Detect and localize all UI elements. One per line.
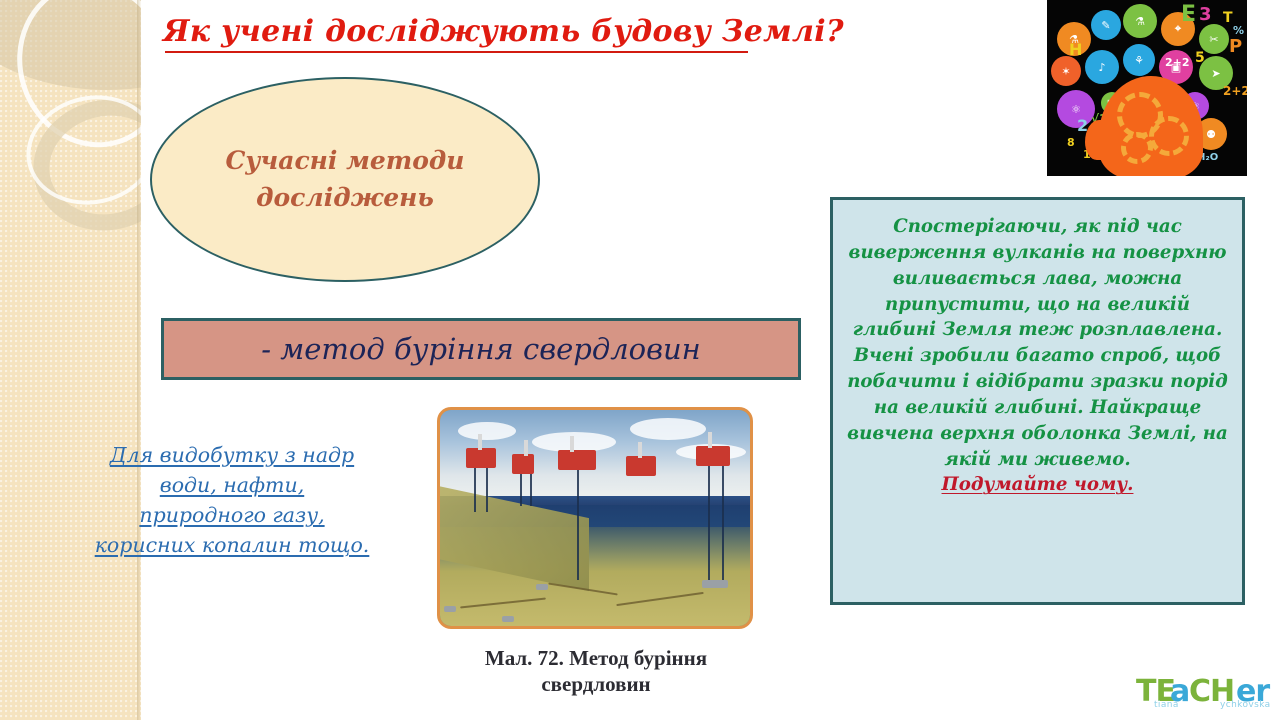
head-silhouette-icon: [1099, 76, 1203, 176]
extraction-note-line-3: природного газу,: [139, 503, 324, 527]
glyph-5: 5: [1195, 50, 1205, 66]
riser-pipe: [577, 470, 579, 580]
rig-leg: [474, 468, 476, 512]
glyph-T: T: [1223, 10, 1233, 26]
modern-methods-ellipse: Сучасні методи досліджень: [150, 77, 540, 282]
subsea-wellhead: [536, 584, 548, 590]
cloud-icon: [532, 432, 616, 452]
subsea-template: [702, 580, 728, 588]
bubble-music-icon: ♪: [1085, 50, 1119, 84]
observation-body-text: Спостерігаючи, як під час виверження вул…: [845, 214, 1230, 472]
gear-icon: [1149, 116, 1189, 156]
bubble-atom-icon: ⚛: [1057, 90, 1095, 128]
cloud-icon: [630, 418, 706, 440]
drilling-rig: [466, 448, 496, 468]
glyph-percent: %: [1233, 24, 1244, 37]
extraction-purpose-note: Для видобутку з надр води, нафти, природ…: [82, 440, 382, 561]
glyph-H: H: [1069, 40, 1082, 59]
rig-leg: [520, 474, 522, 506]
bubble-beaker-icon: ⚗: [1123, 4, 1157, 38]
glyph-8: 8: [1067, 136, 1075, 149]
glyph-E: E: [1181, 2, 1196, 27]
extraction-note-line-1: Для видобутку з надр: [110, 443, 354, 467]
drilling-rig: [696, 446, 730, 466]
figure-container: [437, 407, 753, 629]
offshore-drilling-rigs-illustration: [437, 407, 753, 629]
drilling-rig: [558, 450, 596, 470]
bubble-globe-icon: ✶: [1051, 56, 1081, 86]
glyph-3: 3: [1199, 4, 1212, 25]
glyph-sum-2plus2: 2+2: [1165, 56, 1190, 69]
glyph-sum-2plus2-alt: 2+2: [1223, 84, 1247, 98]
extraction-note-line-2: води, нафти,: [160, 473, 304, 497]
cloud-icon: [458, 422, 516, 440]
title-underline-rule: [165, 51, 748, 53]
figure-caption: Мал. 72. Метод буріння свердловин: [420, 645, 772, 698]
bubble-pen-icon: ✎: [1091, 10, 1121, 40]
sidebar-edge: [137, 0, 141, 720]
decorative-sidebar: [0, 0, 141, 720]
bubble-dna-icon: ⚘: [1123, 44, 1155, 76]
riser-pipe: [708, 466, 710, 586]
glyph-P: P: [1229, 36, 1242, 57]
rig-leg: [530, 474, 532, 506]
extraction-note-line-4: корисних копалин тощо.: [95, 533, 370, 557]
drilling-method-bar: - метод буріння свердловин: [161, 318, 801, 380]
subsea-wellhead: [502, 616, 514, 622]
page-title: Як учені досліджують будову Землі?: [163, 14, 763, 49]
modern-methods-label: Сучасні методи досліджень: [226, 143, 465, 216]
drilling-rig: [512, 454, 534, 474]
drilling-vessel: [626, 456, 656, 476]
think-why-prompt: Подумайте чому.: [845, 474, 1230, 495]
logo-subtext-left: tiana: [1154, 700, 1179, 710]
logo-subtext-right: ychkovska: [1220, 700, 1271, 710]
teacher-logo: TE a CH er tiana ychkovska: [1136, 674, 1276, 718]
gear-icon: [1121, 132, 1153, 164]
riser-pipe: [722, 466, 724, 584]
subsea-wellhead: [444, 606, 456, 612]
drilling-method-label: - метод буріння свердловин: [261, 332, 701, 366]
rig-leg: [486, 468, 488, 512]
observation-text-box: Спостерігаючи, як під час виверження вул…: [830, 197, 1245, 605]
science-brain-icons-image: ⚗ ✎ ⚗ ⌖ ✂ ✶ ♪ ⚘ ▣ ➤ ⚛ ▤ ⚛ ⚉ E 3 T P H % …: [1047, 0, 1247, 176]
